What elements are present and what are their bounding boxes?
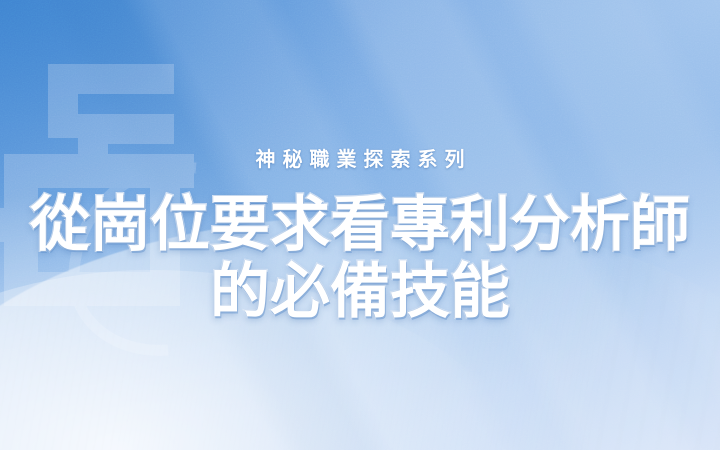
poster-title-line-2: 的必備技能 — [30, 258, 690, 325]
poster-canvas: 神秘職業探索系列 從崗位要求看專利分析師 的必備技能 — [0, 0, 720, 450]
poster-subtitle: 神秘職業探索系列 — [249, 148, 472, 172]
poster-title-line-1: 從崗位要求看專利分析師 — [30, 191, 690, 258]
poster-title: 從崗位要求看專利分析師 的必備技能 — [30, 191, 690, 325]
poster-content: 神秘職業探索系列 從崗位要求看專利分析師 的必備技能 — [0, 0, 720, 450]
